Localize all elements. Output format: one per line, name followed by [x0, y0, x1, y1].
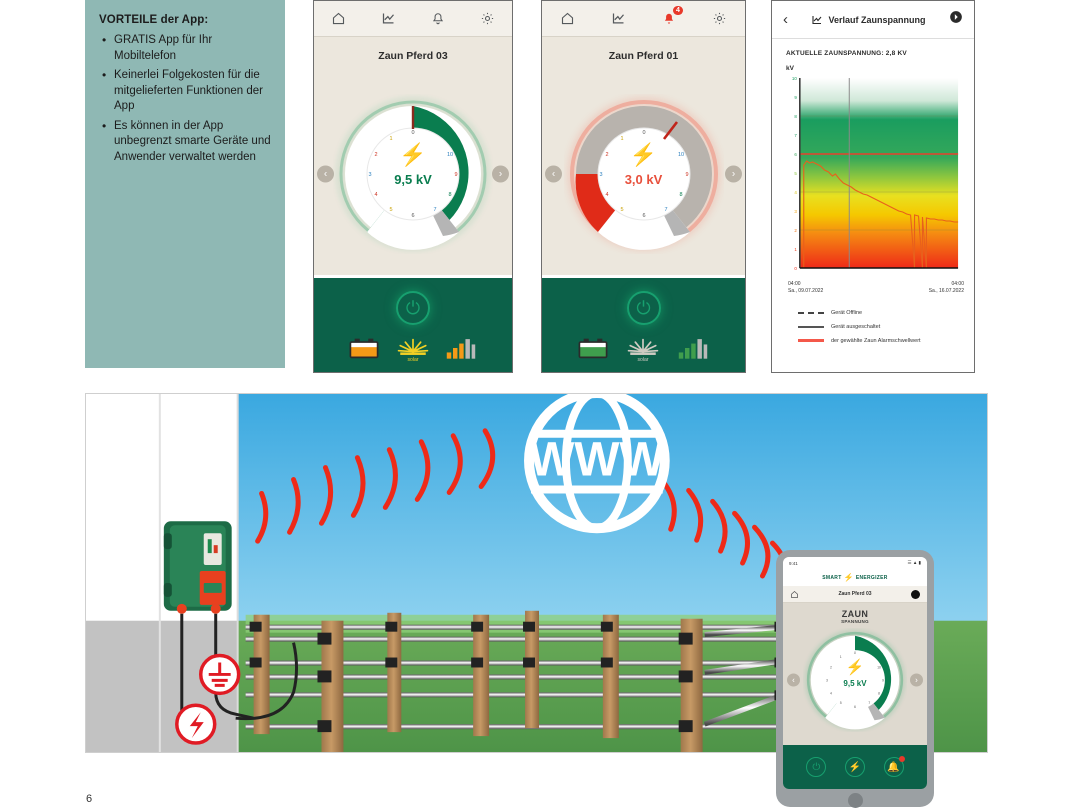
current-voltage-label: AKTUELLE ZAUNSPANNUNG: 2,8 KV: [772, 39, 974, 57]
bell-icon[interactable]: [427, 8, 449, 30]
next-device-button[interactable]: ›: [725, 165, 742, 182]
gear-icon[interactable]: [709, 8, 731, 30]
svg-text:6: 6: [854, 705, 856, 709]
notification-badge: 4: [673, 6, 683, 15]
svg-text:solar: solar: [407, 357, 418, 362]
svg-text:6: 6: [411, 213, 414, 219]
phone-gauge-area: ‹ 012: [783, 628, 927, 732]
chart-topbar: ‹ Verlauf Zaunspannung: [772, 1, 974, 39]
x-label-right: 04:00 Sa., 16.07.2022: [929, 281, 964, 296]
svg-text:1: 1: [389, 136, 392, 142]
forward-button[interactable]: [949, 10, 963, 29]
next-device-button[interactable]: ›: [910, 674, 923, 687]
globe-www-label: WWW: [529, 434, 665, 487]
svg-text:1: 1: [794, 247, 797, 252]
voltage-history-panel: ‹ Verlauf Zaunspannung AKTUELLE ZAUNSPAN…: [771, 0, 975, 373]
svg-text:7: 7: [433, 207, 436, 213]
home-icon[interactable]: [790, 590, 799, 599]
brand-name-2: ENERGIZER: [856, 575, 888, 581]
svg-text:5: 5: [840, 701, 842, 705]
svg-text:7: 7: [794, 133, 797, 138]
svg-text:0: 0: [794, 266, 797, 271]
chart-icon[interactable]: [607, 8, 629, 30]
voltage-gauge: 0 1 2 3 4 5 6 7 8 9 10 ⚡ 3,0 kV: [564, 94, 724, 254]
svg-text:0: 0: [642, 130, 645, 136]
brand-name-1: SMART: [822, 575, 841, 581]
voltage-value: 9,5 kV: [803, 679, 907, 688]
app-screen-fence-01: 4 Zaun Pferd 01 ‹: [541, 0, 746, 373]
svg-text:3: 3: [794, 209, 797, 214]
svg-text:2: 2: [794, 228, 797, 233]
voltage-value: 9,5 kV: [333, 172, 493, 187]
gauge-area: ‹ 0 1 2: [314, 66, 512, 281]
solar-icon: solar: [396, 336, 430, 362]
svg-text:4: 4: [374, 192, 377, 198]
legend-item: der gewählte Zaun Alarmschwellwert: [798, 338, 974, 344]
x-left-date: Sa., 09.07.2022: [788, 288, 823, 295]
home-icon[interactable]: [556, 8, 578, 30]
chevron-right-circle-icon: [949, 10, 963, 24]
phone-bottom-bar: ⏻ solar: [542, 275, 745, 372]
power-icon[interactable]: ⏻: [627, 291, 661, 325]
notification-badge: [899, 756, 905, 762]
prev-device-button[interactable]: ‹: [317, 165, 334, 182]
status-time: 9:41: [789, 561, 798, 566]
list-item: GRATIS App für Ihr Mobiltelefon: [99, 33, 271, 64]
svg-text:1: 1: [620, 136, 623, 142]
home-icon[interactable]: [328, 8, 350, 30]
x-axis-labels: 04:00 Sa., 09.07.2022 04:00 Sa., 16.07.2…: [772, 278, 974, 296]
svg-text:5: 5: [620, 207, 623, 213]
x-left-time: 04:00: [788, 281, 823, 288]
x-right-time: 04:00: [929, 281, 964, 288]
brand-logo: SMART ⚡ ENERGIZER: [783, 569, 927, 586]
svg-text:9: 9: [794, 95, 797, 100]
phone-header: Zaun Pferd 03: [783, 586, 927, 603]
battery-icon: [347, 336, 381, 362]
bolt-icon[interactable]: ⚡: [845, 757, 865, 777]
panel-title-text: Verlauf Zaunspannung: [828, 15, 925, 25]
power-icon[interactable]: ⏻: [396, 291, 430, 325]
x-label-left: 04:00 Sa., 09.07.2022: [788, 281, 823, 296]
legend-swatch-dashed: [798, 312, 824, 314]
legend-label: Gerät Offline: [831, 310, 862, 316]
list-item: Keinerlei Folgekosten für die mitgeliefe…: [99, 68, 271, 115]
phone-bottom-bar: ⏻ solar: [314, 275, 512, 372]
chart-svg: 10 9 8 7 6 5 4 3 2 1 0: [782, 73, 964, 278]
signal-icon: [445, 336, 479, 362]
svg-text:7: 7: [664, 207, 667, 213]
advantages-info-box: VORTEILE der App: GRATIS App für Ihr Mob…: [85, 0, 285, 368]
gear-icon[interactable]: [476, 8, 498, 30]
legend-item: Gerät Offline: [798, 310, 974, 316]
chart-icon[interactable]: [377, 8, 399, 30]
legend-label: Gerät ausgeschaltet: [831, 324, 880, 330]
chart-legend: Gerät Offline Gerät ausgeschaltet der ge…: [772, 296, 974, 344]
screen-subtitle: SPANNUNG: [783, 619, 927, 624]
svg-text:4: 4: [830, 691, 832, 695]
voltage-gauge: 0 1 2 3 4 5 6 7 8 9 10 ⚡ 9,5 kV: [333, 94, 493, 254]
high-voltage-icon: [177, 705, 215, 743]
battery-icon: [576, 336, 610, 362]
svg-text:4: 4: [605, 192, 608, 198]
svg-text:solar: solar: [638, 357, 649, 362]
legend-swatch-solid: [798, 326, 824, 328]
phone-status-bar: 9:41 ☰ ▲ ▮: [783, 557, 927, 569]
voltage-gauge: 012 345 678 910 ⚡ 9,5 kV: [803, 628, 907, 732]
svg-text:1: 1: [840, 655, 842, 659]
chart-icon: [811, 14, 823, 26]
phone-topbar: 4: [542, 1, 745, 37]
page-title: Zaun Pferd 03: [314, 37, 512, 66]
next-device-button[interactable]: ›: [492, 165, 509, 182]
bolt-icon: ⚡: [333, 144, 493, 166]
svg-text:0: 0: [854, 651, 856, 655]
solar-icon: solar: [626, 336, 660, 362]
menu-dot-icon[interactable]: [911, 590, 920, 599]
bolt-icon: ⚡: [844, 573, 854, 582]
prev-device-button[interactable]: ‹: [545, 165, 562, 182]
svg-text:7: 7: [868, 701, 870, 705]
illustration-phone: 9:41 ☰ ▲ ▮ SMART ⚡ ENERGIZER Zaun Pferd …: [776, 550, 934, 807]
chart-plot: 10 9 8 7 6 5 4 3 2 1 0: [782, 73, 964, 278]
status-indicators: ☰ ▲ ▮: [908, 560, 921, 566]
screen-title: ZAUN: [783, 603, 927, 619]
panel-title: Verlauf Zaunspannung: [811, 14, 925, 26]
energizer-device: [164, 521, 232, 613]
bolt-icon: ⚡: [803, 660, 907, 675]
svg-text:8: 8: [878, 691, 880, 695]
phone-header-title: Zaun Pferd 03: [838, 591, 871, 597]
home-button[interactable]: [848, 793, 863, 808]
bell-icon[interactable]: 🔔: [884, 757, 904, 777]
power-icon[interactable]: ⏻: [806, 757, 826, 777]
gauge-area: ‹ 0 1 2: [542, 66, 745, 281]
phone-bottom-bar: ⏻ ⚡ 🔔: [783, 745, 927, 789]
svg-text:5: 5: [389, 207, 392, 213]
phone-topbar: [314, 1, 512, 37]
svg-text:8: 8: [794, 114, 797, 119]
app-screen-fence-03: Zaun Pferd 03 ‹ 0: [313, 0, 513, 373]
bell-icon[interactable]: 4: [658, 8, 680, 30]
legend-label: der gewählte Zaun Alarmschwellwert: [831, 338, 921, 344]
svg-text:0: 0: [411, 130, 414, 136]
svg-text:8: 8: [448, 192, 451, 198]
info-box-list: GRATIS App für Ihr Mobiltelefon Keinerle…: [99, 33, 271, 165]
ground-icon: [201, 656, 239, 694]
status-icon-row: solar: [542, 325, 745, 362]
svg-text:8: 8: [679, 192, 682, 198]
voltage-value: 3,0 kV: [564, 172, 724, 187]
y-axis-unit: kV: [772, 57, 974, 72]
phone-screen: 9:41 ☰ ▲ ▮ SMART ⚡ ENERGIZER Zaun Pferd …: [783, 557, 927, 789]
info-box-title: VORTEILE der App:: [99, 14, 271, 26]
back-button[interactable]: ‹: [783, 11, 788, 28]
x-right-date: Sa., 16.07.2022: [929, 288, 964, 295]
svg-text:5: 5: [794, 171, 797, 176]
list-item: Es können in der App unbegrenzt smarte G…: [99, 119, 271, 166]
signal-icon: [677, 336, 711, 362]
svg-text:6: 6: [642, 213, 645, 219]
svg-text:4: 4: [794, 190, 797, 195]
bolt-icon: ⚡: [564, 144, 724, 166]
legend-item: Gerät ausgeschaltet: [798, 324, 974, 330]
page-title: Zaun Pferd 01: [542, 37, 745, 66]
svg-text:10: 10: [792, 76, 797, 81]
page-number: 6: [86, 793, 92, 805]
status-icon-row: solar: [314, 325, 512, 362]
svg-text:6: 6: [794, 152, 797, 157]
prev-device-button[interactable]: ‹: [787, 674, 800, 687]
legend-swatch-threshold: [798, 339, 824, 342]
